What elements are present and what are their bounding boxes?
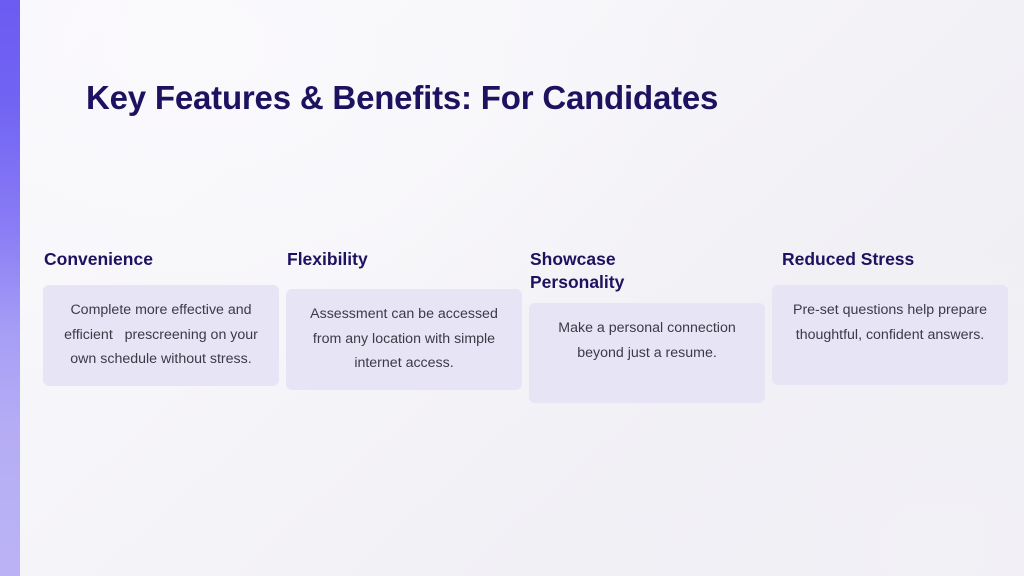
- feature-columns: Convenience Complete more effective and …: [43, 248, 1008, 418]
- feature-body-reduced-stress: Pre-set questions help prepare thoughtfu…: [786, 298, 994, 347]
- feature-body-showcase-personality: Make a personal connection beyond just a…: [543, 316, 751, 365]
- feature-column-convenience: Convenience Complete more effective and …: [43, 248, 279, 386]
- feature-card-convenience: Complete more effective and efficient pr…: [43, 285, 279, 386]
- feature-card-reduced-stress: Pre-set questions help prepare thoughtfu…: [772, 285, 1008, 385]
- feature-body-convenience: Complete more effective and efficient pr…: [57, 298, 265, 372]
- feature-card-showcase-personality: Make a personal connection beyond just a…: [529, 303, 765, 403]
- feature-heading-showcase-personality: Showcase Personality: [529, 248, 765, 294]
- feature-body-flexibility: Assessment can be accessed from any loca…: [300, 302, 508, 376]
- feature-heading-convenience: Convenience: [43, 248, 279, 271]
- feature-card-flexibility: Assessment can be accessed from any loca…: [286, 289, 522, 390]
- feature-heading-flexibility: Flexibility: [286, 248, 522, 271]
- left-accent-bar: [0, 0, 20, 576]
- page-title: Key Features & Benefits: For Candidates: [86, 79, 718, 117]
- feature-heading-reduced-stress: Reduced Stress: [772, 248, 1008, 271]
- slide-canvas: Key Features & Benefits: For Candidates …: [0, 0, 1024, 576]
- feature-column-flexibility: Flexibility Assessment can be accessed f…: [286, 248, 522, 390]
- feature-column-showcase-personality: Showcase Personality Make a personal con…: [529, 248, 765, 403]
- feature-column-reduced-stress: Reduced Stress Pre-set questions help pr…: [772, 248, 1008, 385]
